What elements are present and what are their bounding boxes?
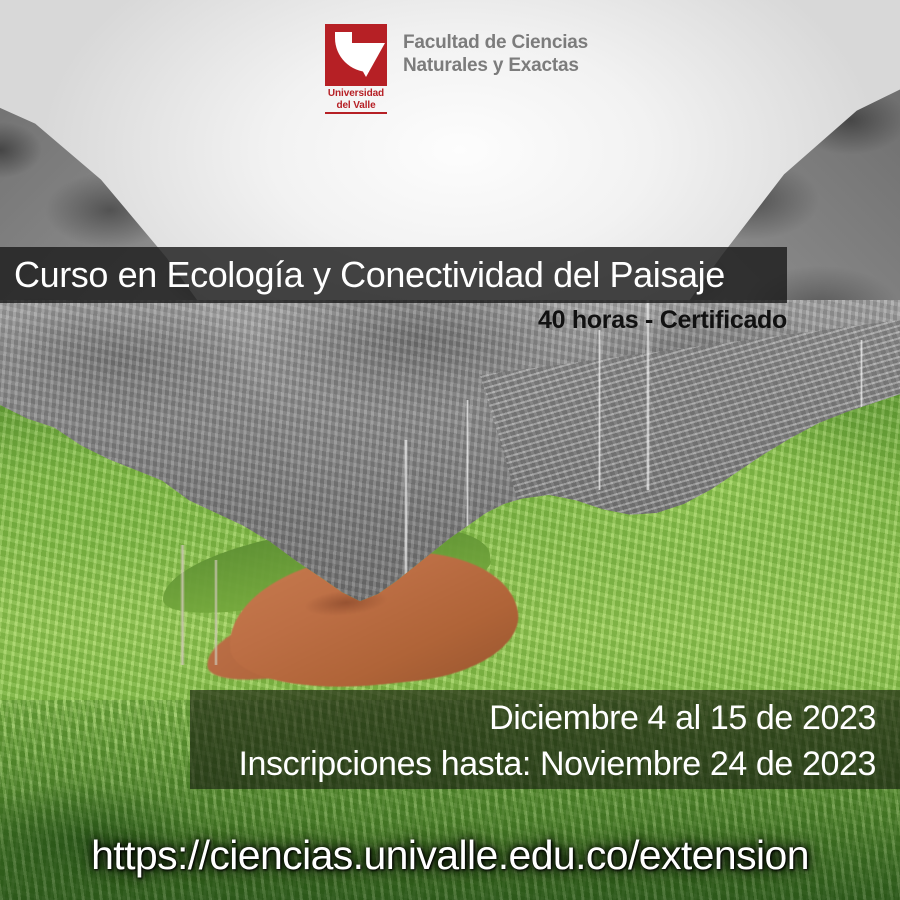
- tree-trunk: [598, 330, 601, 490]
- logo-institution-name: Universidad del Valle: [323, 88, 389, 111]
- logo-v-triangle: [347, 43, 385, 77]
- faculty-name: Facultad de Ciencias Naturales y Exactas: [403, 31, 633, 77]
- tree-trunk: [214, 560, 218, 665]
- course-title: Curso en Ecología y Conectividad del Pai…: [0, 256, 725, 294]
- logo-institution-line1: Universidad: [323, 88, 389, 100]
- course-dates: Diciembre 4 al 15 de 2023: [190, 690, 900, 741]
- dates-band: Diciembre 4 al 15 de 2023 Inscripciones …: [190, 690, 900, 789]
- univalle-uv-monogram-icon: [325, 24, 387, 86]
- website-url[interactable]: https://ciencias.univalle.edu.co/extensi…: [0, 832, 900, 879]
- tree-trunk: [180, 545, 185, 665]
- faculty-line1: Facultad de Ciencias: [403, 31, 633, 54]
- univalle-logo-block: Universidad del Valle Facultad de Cienci…: [325, 24, 585, 116]
- logo-institution-line2: del Valle: [323, 100, 389, 112]
- course-title-bar: Curso en Ecología y Conectividad del Pai…: [0, 247, 787, 303]
- logo-underline: [325, 112, 387, 114]
- poster-canvas: Universidad del Valle Facultad de Cienci…: [0, 0, 900, 900]
- course-subtitle: 40 horas - Certificado: [0, 306, 791, 335]
- registration-deadline: Inscripciones hasta: Noviembre 24 de 202…: [190, 741, 900, 787]
- faculty-line2: Naturales y Exactas: [403, 54, 633, 77]
